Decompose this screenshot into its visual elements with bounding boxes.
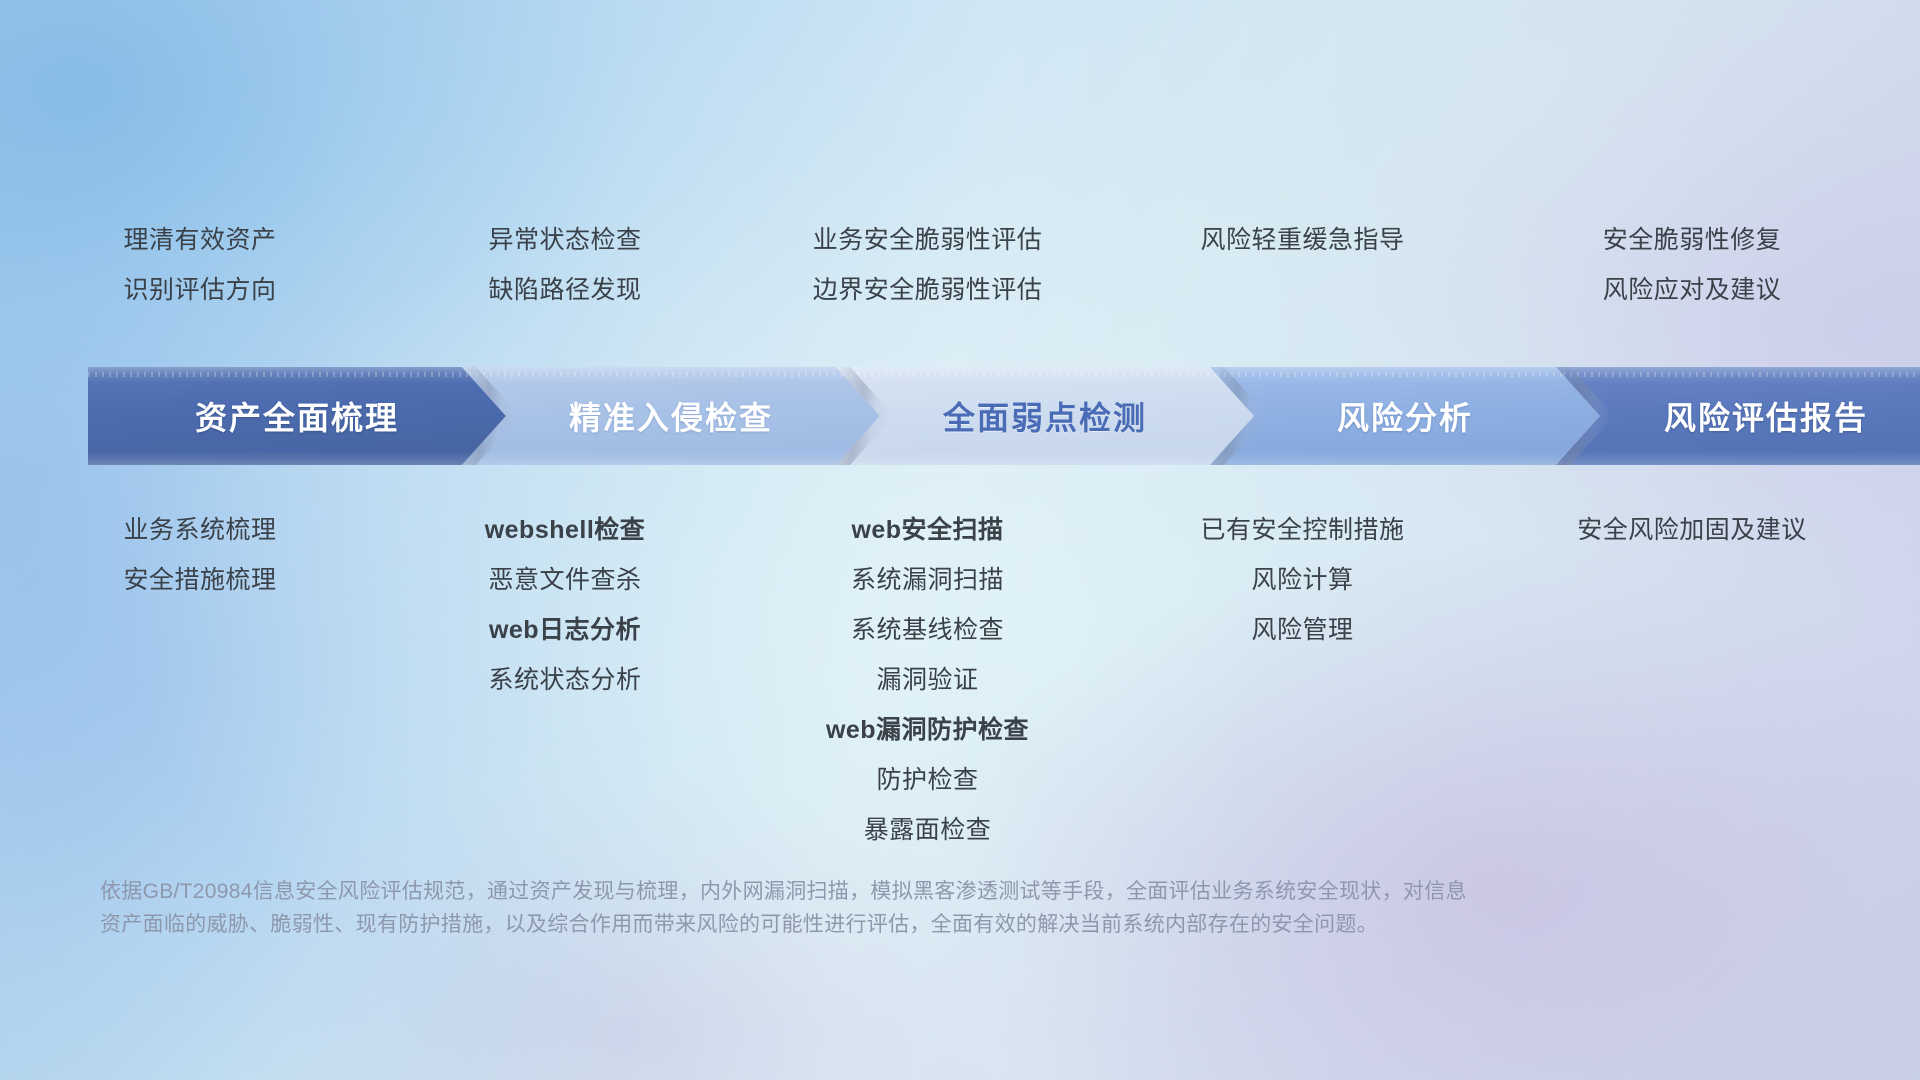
footer-line: 依据GB/T20984信息安全风险评估规范，通过资产发现与梳理，内外网漏洞扫描，… (100, 875, 1660, 908)
stage-chevron-risk-analysis[interactable]: 风险分析 (1210, 367, 1600, 465)
stage-title: 风险分析 (1337, 393, 1473, 439)
stage-outputs-intrusion-check: webshell检查 恶意文件查杀 web日志分析 系统状态分析 (390, 505, 740, 705)
stage-outputs-asset-inventory: 业务系统梳理 安全措施梳理 (0, 505, 390, 605)
stage-chevron-band: 资产全面梳理 精准入侵检查 全面弱点检测 风险分析 风险评估报告 (88, 367, 1860, 465)
stage-output-item: web漏洞防护检查 (740, 705, 1115, 755)
stage-output-item: web日志分析 (390, 605, 740, 655)
stage-inputs-weakness-detection: 业务安全脆弱性评估 边界安全脆弱性评估 (740, 215, 1115, 315)
stage-inputs-asset-inventory: 理清有效资产 识别评估方向 (0, 215, 390, 315)
stage-outputs-risk-analysis: 已有安全控制措施 风险计算 风险管理 (1115, 505, 1490, 655)
stage-output-item: 风险管理 (1115, 605, 1490, 655)
stage-input-item: 缺陷路径发现 (390, 265, 740, 315)
stage-output-item: 系统基线检查 (740, 605, 1115, 655)
stage-inputs-row: 理清有效资产 识别评估方向 异常状态检查 缺陷路径发现 业务安全脆弱性评估 边界… (0, 215, 1920, 315)
stage-outputs-assessment-report: 安全风险加固及建议 (1490, 505, 1920, 555)
stage-input-item: 风险应对及建议 (1490, 265, 1894, 315)
stage-inputs-risk-analysis: 风险轻重缓急指导 (1115, 215, 1490, 265)
stage-title: 风险评估报告 (1664, 393, 1868, 439)
stage-inputs-intrusion-check: 异常状态检查 缺陷路径发现 (390, 215, 740, 315)
stage-output-item: 防护检查 (740, 755, 1115, 805)
stage-output-item: 已有安全控制措施 (1115, 505, 1490, 555)
stage-output-item: 安全措施梳理 (10, 555, 390, 605)
stage-input-item: 安全脆弱性修复 (1490, 215, 1894, 265)
stage-input-item: 识别评估方向 (10, 265, 390, 315)
stage-output-item: 系统状态分析 (390, 655, 740, 705)
stage-outputs-weakness-detection: web安全扫描 系统漏洞扫描 系统基线检查 漏洞验证 web漏洞防护检查 防护检… (740, 505, 1115, 855)
stage-output-item: web安全扫描 (740, 505, 1115, 555)
stage-title: 全面弱点检测 (943, 393, 1147, 439)
footer-line: 资产面临的威胁、脆弱性、现有防护措施，以及综合作用而带来风险的可能性进行评估，全… (100, 908, 1660, 941)
stage-chevron-assessment-report[interactable]: 风险评估报告 (1556, 367, 1920, 465)
stage-output-item: 风险计算 (1115, 555, 1490, 605)
stage-title: 资产全面梳理 (195, 393, 399, 439)
stage-outputs-row: 业务系统梳理 安全措施梳理 webshell检查 恶意文件查杀 web日志分析 … (0, 505, 1920, 855)
stage-input-item: 异常状态检查 (390, 215, 740, 265)
stage-inputs-assessment-report: 安全脆弱性修复 风险应对及建议 (1490, 215, 1920, 315)
stage-input-item: 边界安全脆弱性评估 (740, 265, 1115, 315)
stage-output-item: 漏洞验证 (740, 655, 1115, 705)
process-diagram: 理清有效资产 识别评估方向 异常状态检查 缺陷路径发现 业务安全脆弱性评估 边界… (0, 0, 1920, 1080)
footer-description: 依据GB/T20984信息安全风险评估规范，通过资产发现与梳理，内外网漏洞扫描，… (100, 875, 1660, 941)
stage-input-item: 理清有效资产 (10, 215, 390, 265)
stage-input-item: 业务安全脆弱性评估 (740, 215, 1115, 265)
stage-chevron-asset-inventory[interactable]: 资产全面梳理 (88, 367, 506, 465)
stage-output-item: 系统漏洞扫描 (740, 555, 1115, 605)
stage-title: 精准入侵检查 (569, 393, 773, 439)
stage-output-item: 业务系统梳理 (10, 505, 390, 555)
stage-output-item: 恶意文件查杀 (390, 555, 740, 605)
stage-chevron-intrusion-check[interactable]: 精准入侵检查 (462, 367, 880, 465)
stage-output-item: 安全风险加固及建议 (1490, 505, 1894, 555)
stage-output-item: webshell检查 (390, 505, 740, 555)
stage-chevron-weakness-detection[interactable]: 全面弱点检测 (836, 367, 1254, 465)
stage-input-item: 风险轻重缓急指导 (1115, 215, 1490, 265)
stage-output-item: 暴露面检查 (740, 805, 1115, 855)
